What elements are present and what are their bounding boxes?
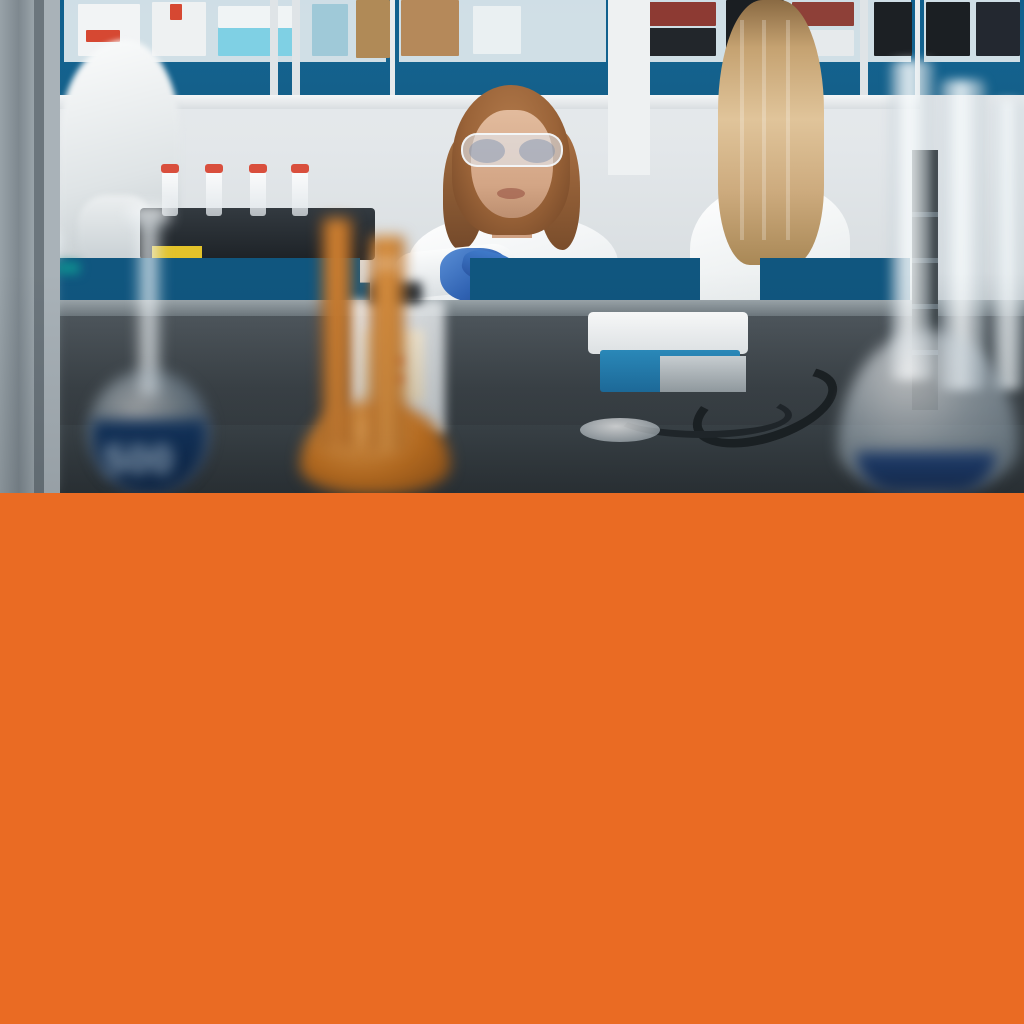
cabinet-divider xyxy=(860,0,868,95)
headline-line-1: THERE IS A FINE LINE xyxy=(74,1017,938,1024)
hair-strand xyxy=(786,20,790,240)
scientist-center-mouth xyxy=(497,188,525,199)
test-tube-cap xyxy=(249,164,267,173)
cabinet-box xyxy=(926,2,970,56)
cabinet-box xyxy=(218,6,296,28)
volumetric-flask-right-liquid xyxy=(856,452,996,493)
door-frame-edge xyxy=(44,0,60,493)
cabinet-box-label xyxy=(170,4,182,20)
orange-text-panel: THERE IS A FINE LINE BETWEEN PASSION AND… xyxy=(0,493,1024,1024)
goggle-lens-right xyxy=(519,139,555,163)
door-frame-shadow xyxy=(34,0,44,493)
graduated-cylinder xyxy=(992,100,1024,390)
cabinet-box xyxy=(874,2,912,56)
petri-dish xyxy=(580,418,660,442)
cabinet-divider xyxy=(292,0,300,95)
cabinet-box xyxy=(312,4,348,56)
amber-cylinder xyxy=(322,218,352,448)
promo-card: 500 THERE IS A FINE LINE BETWEEN PASSION… xyxy=(0,0,1024,1024)
scientist-right-hair xyxy=(718,0,824,265)
amber-cylinder-graduation xyxy=(370,260,404,267)
analytical-balance xyxy=(588,312,748,354)
test-tube xyxy=(206,168,222,216)
hair-strand xyxy=(740,20,744,240)
test-tube-cap xyxy=(161,164,179,173)
laboratory-photo: 500 xyxy=(0,0,1024,493)
upper-cabinet-middle xyxy=(395,0,610,95)
cabinet-box xyxy=(648,28,716,56)
door-frame xyxy=(0,0,34,493)
test-tube-cap xyxy=(205,164,223,173)
test-tube xyxy=(250,168,266,216)
test-tube-cap xyxy=(291,164,309,173)
volumetric-flask-lip xyxy=(128,206,170,224)
cabinet-box xyxy=(356,0,390,58)
cabinet-box xyxy=(648,2,716,26)
amber-cylinder xyxy=(370,236,404,451)
cabinet-box xyxy=(401,0,459,56)
flask-volume-label: 500 xyxy=(104,440,196,480)
hair-strand xyxy=(762,20,766,240)
goggle-lens-left xyxy=(469,139,505,163)
safety-goggles-icon xyxy=(461,133,563,167)
cabinet-divider xyxy=(270,0,278,95)
wall-pillar xyxy=(608,0,650,175)
page-title: THERE IS A FINE LINE BETWEEN PASSION AND… xyxy=(74,1017,938,1024)
cabinet-box xyxy=(473,6,521,54)
test-tube xyxy=(292,168,308,216)
cabinet-box xyxy=(976,2,1020,56)
volumetric-flask-neck xyxy=(138,215,160,395)
